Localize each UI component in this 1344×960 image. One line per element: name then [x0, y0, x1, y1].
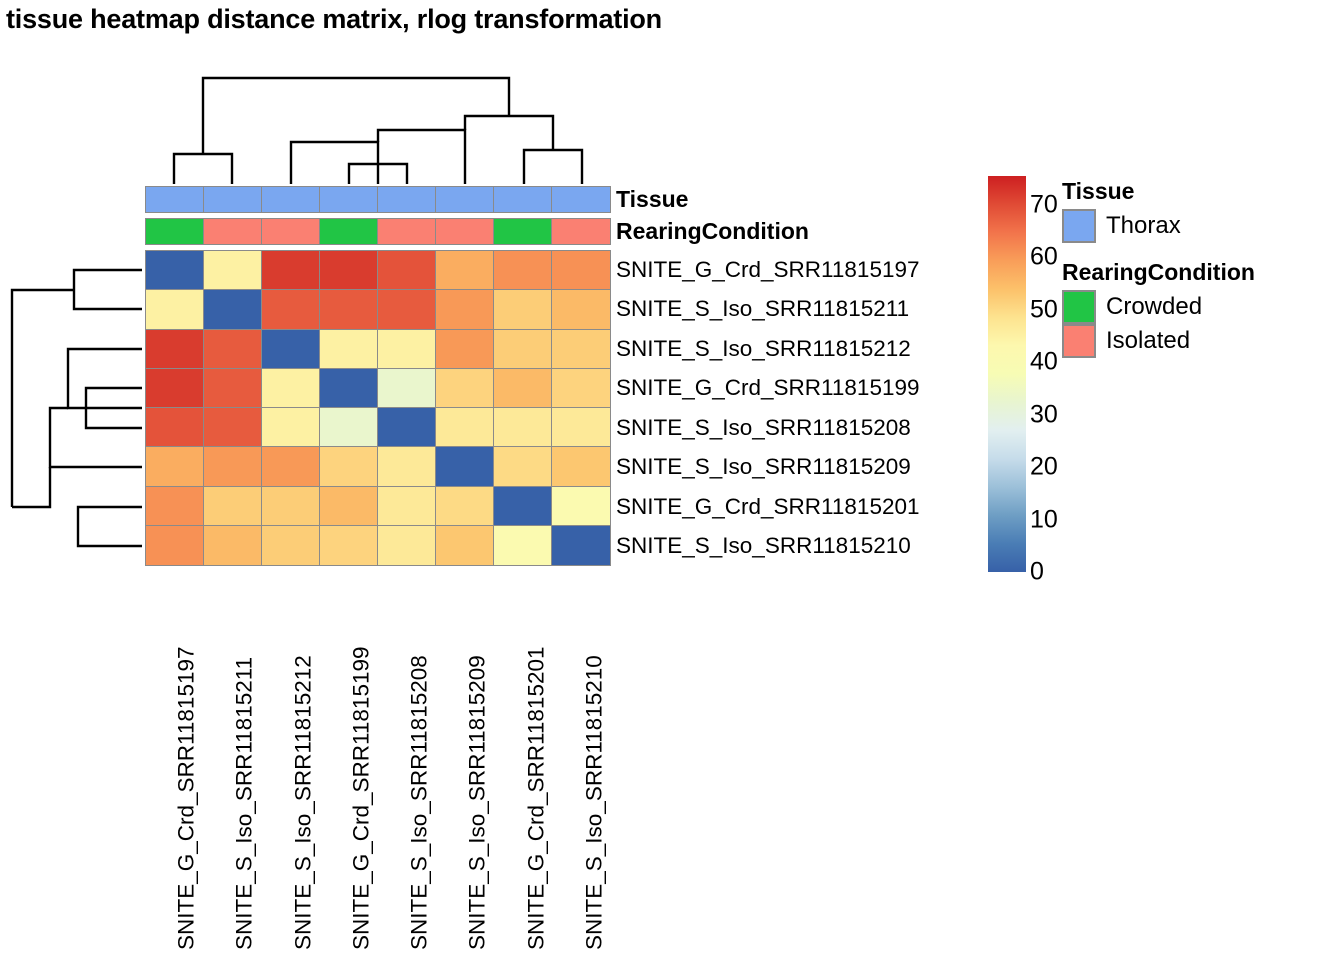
heatmap-cell — [494, 526, 552, 565]
heatmap-cell — [320, 290, 378, 329]
page-title: tissue heatmap distance matrix, rlog tra… — [6, 4, 662, 35]
heatmap-cell — [378, 290, 436, 329]
column-label: SNITE_G_Crd_SRR11815199 — [320, 570, 378, 950]
legend-label: Thorax — [1106, 212, 1181, 240]
legend-swatch-icon — [1062, 290, 1096, 324]
heatmap-cell — [204, 526, 262, 565]
heatmap-cell — [204, 369, 262, 408]
heatmap-cell — [552, 251, 610, 290]
heatmap-cell — [436, 251, 494, 290]
heatmap-cell — [146, 251, 204, 290]
annotation-cell-rearingcondition — [378, 219, 436, 244]
heatmap-cell — [320, 487, 378, 526]
annotation-label-rearingcondition: RearingCondition — [616, 218, 809, 245]
annotation-cell-rearingcondition — [552, 219, 610, 244]
column-label: SNITE_G_Crd_SRR11815197 — [145, 570, 203, 950]
annotation-cell-rearingcondition — [146, 219, 204, 244]
column-dendrogram — [145, 42, 611, 184]
heatmap-cell — [436, 526, 494, 565]
row-label: SNITE_S_Iso_SRR11815211 — [616, 290, 1016, 330]
heatmap-cell — [494, 447, 552, 486]
heatmap-cell — [320, 369, 378, 408]
heatmap-cell — [262, 526, 320, 565]
annotation-label-tissue: Tissue — [616, 186, 688, 213]
legend-block: TissueThorax — [1062, 178, 1342, 243]
heatmap-cell — [436, 330, 494, 369]
legend-label: Isolated — [1106, 327, 1190, 355]
legend-item[interactable]: Isolated — [1062, 324, 1342, 358]
colorbar-tick-label: 60 — [1030, 245, 1058, 270]
annotation-cell-tissue — [204, 187, 262, 212]
legend-title: Tissue — [1062, 178, 1342, 205]
heatmap-cell — [436, 290, 494, 329]
colorbar-tick-label: 50 — [1030, 297, 1058, 322]
heatmap-cell — [494, 369, 552, 408]
row-label: SNITE_G_Crd_SRR11815199 — [616, 369, 1016, 409]
heatmap-cell — [146, 447, 204, 486]
legend-item[interactable]: Thorax — [1062, 209, 1342, 243]
heatmap-cell — [494, 330, 552, 369]
heatmap-cell — [320, 447, 378, 486]
heatmap-cell — [552, 487, 610, 526]
heatmap-cell — [378, 487, 436, 526]
column-label: SNITE_S_Iso_SRR11815208 — [378, 570, 436, 950]
heatmap-cell — [320, 330, 378, 369]
heatmap-cell — [552, 408, 610, 447]
heatmap-cell — [378, 408, 436, 447]
heatmap-cell — [378, 526, 436, 565]
annotation-cell-tissue — [552, 187, 610, 212]
annotation-cell-tissue — [146, 187, 204, 212]
column-label: SNITE_S_Iso_SRR11815211 — [203, 570, 261, 950]
heatmap-cell — [146, 408, 204, 447]
heatmap-cell — [262, 251, 320, 290]
annotation-cell-rearingcondition — [436, 219, 494, 244]
heatmap-cell — [320, 251, 378, 290]
column-label: SNITE_S_Iso_SRR11815210 — [553, 570, 611, 950]
colorbar-tick-label: 30 — [1030, 402, 1058, 427]
row-labels: SNITE_G_Crd_SRR11815197SNITE_S_Iso_SRR11… — [616, 250, 1016, 566]
legend-title: RearingCondition — [1062, 259, 1342, 286]
heatmap-cell — [552, 369, 610, 408]
legend-swatch-icon — [1062, 324, 1096, 358]
colorbar — [988, 176, 1026, 572]
heatmap-cell — [262, 330, 320, 369]
row-label: SNITE_S_Iso_SRR11815208 — [616, 408, 1016, 448]
annotation-cell-rearingcondition — [320, 219, 378, 244]
heatmap-cell — [320, 526, 378, 565]
annotation-cell-tissue — [262, 187, 320, 212]
heatmap-figure: tissue heatmap distance matrix, rlog tra… — [0, 0, 1344, 960]
column-label: SNITE_S_Iso_SRR11815209 — [436, 570, 494, 950]
heatmap-cell — [262, 408, 320, 447]
colorbar-tick-label: 10 — [1030, 507, 1058, 532]
column-labels: SNITE_G_Crd_SRR11815197SNITE_S_Iso_SRR11… — [145, 570, 611, 950]
legend-swatch-icon — [1062, 209, 1096, 243]
heatmap-cell — [552, 447, 610, 486]
heatmap-cell — [378, 369, 436, 408]
row-label: SNITE_S_Iso_SRR11815209 — [616, 448, 1016, 488]
colorbar-gradient — [988, 176, 1026, 572]
heatmap-cell — [146, 487, 204, 526]
heatmap-cell — [146, 369, 204, 408]
row-label: SNITE_G_Crd_SRR11815197 — [616, 250, 1016, 290]
column-label: SNITE_G_Crd_SRR11815201 — [495, 570, 553, 950]
legend-item[interactable]: Crowded — [1062, 290, 1342, 324]
heatmap-cell — [204, 487, 262, 526]
annotation-cell-tissue — [320, 187, 378, 212]
annotation-cell-rearingcondition — [262, 219, 320, 244]
heatmap-grid — [145, 250, 611, 566]
heatmap-cell — [204, 251, 262, 290]
annotation-cell-rearingcondition — [494, 219, 552, 244]
annotation-cell-tissue — [494, 187, 552, 212]
heatmap-cell — [378, 251, 436, 290]
legend-panel: TissueThoraxRearingConditionCrowdedIsola… — [1062, 178, 1342, 374]
annotation-row-rearingcondition — [145, 218, 611, 245]
heatmap-cell — [494, 290, 552, 329]
heatmap-cell — [262, 290, 320, 329]
legend-label: Crowded — [1106, 293, 1202, 321]
column-label: SNITE_S_Iso_SRR11815212 — [262, 570, 320, 950]
heatmap-cell — [378, 330, 436, 369]
heatmap-cell — [436, 369, 494, 408]
heatmap-cell — [552, 290, 610, 329]
colorbar-tick-label: 0 — [1030, 560, 1044, 585]
heatmap-cell — [204, 290, 262, 329]
heatmap-cell — [204, 447, 262, 486]
colorbar-tick-label: 20 — [1030, 455, 1058, 480]
row-label: SNITE_G_Crd_SRR11815201 — [616, 487, 1016, 527]
heatmap-cell — [494, 408, 552, 447]
heatmap-cell — [262, 369, 320, 408]
annotation-cell-tissue — [378, 187, 436, 212]
heatmap-cell — [146, 290, 204, 329]
heatmap-cell — [552, 330, 610, 369]
row-dendrogram — [6, 250, 142, 566]
heatmap-cell — [436, 408, 494, 447]
row-label: SNITE_S_Iso_SRR11815210 — [616, 527, 1016, 567]
heatmap-cell — [436, 447, 494, 486]
heatmap-cell — [262, 487, 320, 526]
heatmap-cell — [494, 487, 552, 526]
heatmap-cell — [204, 330, 262, 369]
annotation-row-tissue — [145, 186, 611, 213]
heatmap-cell — [320, 408, 378, 447]
heatmap-cell — [204, 408, 262, 447]
heatmap-cell — [436, 487, 494, 526]
annotation-cell-tissue — [436, 187, 494, 212]
annotation-cell-rearingcondition — [204, 219, 262, 244]
legend-block: RearingConditionCrowdedIsolated — [1062, 259, 1342, 358]
heatmap-cell — [146, 330, 204, 369]
heatmap-cell — [552, 526, 610, 565]
heatmap-cell — [146, 526, 204, 565]
heatmap-cell — [262, 447, 320, 486]
colorbar-tick-label: 40 — [1030, 350, 1058, 375]
row-label: SNITE_S_Iso_SRR11815212 — [616, 329, 1016, 369]
colorbar-tick-label: 70 — [1030, 192, 1058, 217]
heatmap-cell — [494, 251, 552, 290]
heatmap-cell — [378, 447, 436, 486]
